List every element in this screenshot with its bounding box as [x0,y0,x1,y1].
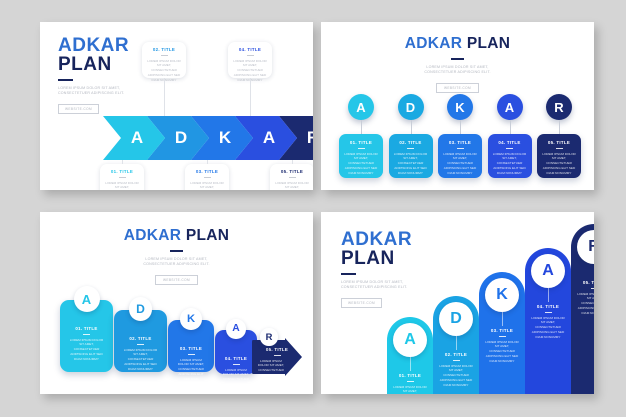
card-body: LOREM IPSUM DOLOR SIT AMET, CONSECTETUER… [443,152,477,177]
card-title: 01. TITLE [60,326,113,331]
connector-line [548,288,549,302]
connector-pin [361,120,362,134]
card-title: 03. TITLE [189,169,225,174]
card-rule [289,177,296,178]
card-body: LOREM IPSUM DOLOR SIT AMET, CONSECTETUER… [542,152,576,177]
connector-line [456,336,457,350]
subtitle: LOREM IPSUM DOLOR SIT AMET, CONSECTETUER… [58,86,168,97]
title-rule [451,58,464,60]
title-dark: PLAN [58,54,112,75]
title-accent: ADKAR [124,227,181,244]
card-rule [499,336,506,337]
card-rule [457,148,464,149]
card-title: 02. TITLE [114,336,167,341]
title-accent: ADKAR [58,35,129,56]
website-button[interactable]: WEBSITE.COM [58,104,99,114]
connector-pin [510,120,511,134]
adkar-descending-cards-panel[interactable]: ADKAR PLAN LOREM IPSUM DOLOR SIT AMET, C… [40,212,313,394]
card-rule [358,148,365,149]
website-button[interactable]: WEBSITE.COM [436,83,479,93]
letter-circle-2[interactable]: D [129,297,153,321]
title-accent: ADKAR [341,229,412,250]
letter-circle-3[interactable]: K [485,278,519,312]
card-rule [407,148,414,149]
connector-line [122,160,123,164]
card-title: 04. TITLE [215,356,257,361]
card-title: 01. TITLE [104,169,140,174]
card-rule [274,355,281,356]
page-title: ADKAR PLAN [341,230,461,269]
card-title: 05. TITLE [542,140,576,145]
card-rule [247,55,254,56]
card-title: 05. TITLE [571,280,594,285]
subtitle: LOREM IPSUM DOLOR SIT AMET, CONSECTETUER… [341,280,461,291]
connector-line [502,312,503,326]
card-body: LOREM IPSUM DOLOR SIT AMET, CONSECTETUER… [525,316,571,341]
title-rule [170,250,183,252]
adkar-circle-card-panel[interactable]: ADKAR PLAN LOREM IPSUM DOLOR SIT AMET, C… [321,22,594,190]
panel-header: ADKAR PLAN LOREM IPSUM DOLOR SIT AMET, C… [341,230,461,309]
card-body: LOREM IPSUM DOLOR SIT AMET, CONSECTETUER… [344,152,378,177]
card-title: 05. TITLE [274,169,310,174]
card-rule [556,148,563,149]
title-accent: ADKAR [405,35,462,52]
title-dark: PLAN [186,227,229,244]
card-title: 02. TITLE [394,140,428,145]
card-body: LOREM IPSUM DOLOR SIT AMET, CONSECTETUER… [252,359,302,389]
title-dark: PLAN [341,248,395,269]
panel-header: ADKAR PLAN LOREM IPSUM DOLOR SIT AMET, C… [321,36,594,94]
letter-circle-4[interactable]: A [226,319,245,338]
card-rule [83,334,90,335]
card-body: LOREM IPSUM DOLOR SIT AMET, CONSECTETUER… [60,338,113,363]
letter-circle-1[interactable]: A [74,286,100,312]
card-title: 01. TITLE [344,140,378,145]
card-rule [204,177,211,178]
letter-circle-3[interactable]: K [180,308,202,330]
subtitle: LOREM IPSUM DOLOR SIT AMET, CONSECTETUER… [321,65,594,76]
card-rule [453,360,460,361]
connector-pin [460,120,461,134]
connector-line [292,160,293,164]
subtitle: LOREM IPSUM DOLOR SIT AMET, CONSECTETUER… [40,257,313,268]
connector-line [410,357,411,371]
step-card-5[interactable]: 05. TITLELOREM IPSUM DOLOR SIT AMET, CON… [252,338,302,376]
info-card[interactable]: 03. TITLELOREM IPSUM DOLOR SIT AMET, CON… [185,164,229,190]
chevron-letter: K [219,128,232,148]
step-card-3[interactable]: 03. TITLELOREM IPSUM DOLOR SIT AMET, CON… [438,134,482,178]
card-rule [591,288,595,289]
connector-line [250,78,251,116]
card-rule [188,354,195,355]
card-rule [407,381,414,382]
step-card-2[interactable]: 02. TITLELOREM IPSUM DOLOR SIT AMET, CON… [389,134,433,178]
step-card-4[interactable]: 04. TITLELOREM IPSUM DOLOR SIT AMET, CON… [488,134,532,178]
title-dark: PLAN [467,35,510,52]
letter-circle-1[interactable]: A [348,94,374,120]
card-title: 02. TITLE [433,352,479,357]
page-title: ADKAR PLAN [40,228,313,244]
card-title: 04. TITLE [525,304,571,309]
card-title: 03. TITLE [168,346,214,351]
info-card[interactable]: 04. TITLELOREM IPSUM DOLOR SIT AMET, CON… [228,42,272,78]
card-title: 05. TITLE [252,347,302,352]
title-rule [58,79,73,81]
card-title: 04. TITLE [493,140,527,145]
step-card-1[interactable]: 01. TITLELOREM IPSUM DOLOR SIT AMET, CON… [339,134,383,178]
letter-circle-1[interactable]: A [393,323,427,357]
card-body: LOREM IPSUM DOLOR SIT AMET, CONSECTETUER… [493,152,527,177]
adkar-chevron-panel[interactable]: ADKAR PLAN LOREM IPSUM DOLOR SIT AMET, C… [40,22,313,190]
card-title: 02. TITLE [146,47,182,52]
info-card[interactable]: 01. TITLELOREM IPSUM DOLOR SIT AMET, CON… [100,164,144,190]
letter-circle-3[interactable]: K [447,94,473,120]
website-button[interactable]: WEBSITE.COM [155,275,198,285]
card-title: 04. TITLE [232,47,268,52]
card-rule [545,312,552,313]
card-body: LOREM IPSUM DOLOR SIT AMET, CONSECTETUER… [387,385,433,395]
card-rule [161,55,168,56]
letter-circle-4[interactable]: A [497,94,523,120]
connector-line [207,160,208,164]
chevron-letter: D [175,128,188,148]
infographic-collection: ADKAR PLAN LOREM IPSUM DOLOR SIT AMET, C… [0,0,626,417]
card-body: LOREM IPSUM DOLOR SIT AMET, CONSECTETUER… [571,292,594,317]
info-card[interactable]: 02. TITLELOREM IPSUM DOLOR SIT AMET, CON… [142,42,186,78]
letter-circle-4[interactable]: A [531,254,565,288]
card-title: 03. TITLE [479,328,525,333]
card-body: LOREM IPSUM DOLOR SIT AMET, CONSECTETUER… [394,152,428,177]
chevron-letter: A [263,128,276,148]
card-rule [119,177,126,178]
adkar-ascending-pillars-panel[interactable]: 01. TITLELOREM IPSUM DOLOR SIT AMET, CON… [321,212,594,394]
connector-line [164,78,165,116]
card-body: LOREM IPSUM DOLOR SIT AMET, CONSECTETUER… [479,340,525,365]
card-body: LOREM IPSUM DOLOR SIT AMET, CONSECTETUER… [104,181,140,191]
card-title: 03. TITLE [443,140,477,145]
card-rule [137,344,144,345]
letter-circle-2[interactable]: D [439,302,473,336]
card-body: LOREM IPSUM DOLOR SIT AMET, CONSECTETUER… [114,348,167,373]
card-rule [506,148,513,149]
card-body: LOREM IPSUM DOLOR SIT AMET, CONSECTETUER… [189,181,225,191]
connector-pin [559,120,560,134]
connector-pin [411,120,412,134]
website-button[interactable]: WEBSITE.COM [341,298,382,308]
info-card[interactable]: 05. TITLELOREM IPSUM DOLOR SIT AMET, CON… [270,164,313,190]
card-title: 01. TITLE [387,373,433,378]
letter-circle-5[interactable]: R [260,328,277,345]
chevron-letter: R [307,128,313,148]
letter-circle-2[interactable]: D [398,94,424,120]
step-card-5[interactable]: 05. TITLELOREM IPSUM DOLOR SIT AMET, CON… [537,134,581,178]
title-rule [341,273,356,275]
page-title: ADKAR PLAN [321,36,594,52]
card-body: LOREM IPSUM DOLOR SIT AMET, CONSECTETUER… [274,181,310,191]
card-body: LOREM IPSUM DOLOR SIT AMET, CONSECTETUER… [168,358,214,388]
chevron-letter: A [131,128,144,148]
card-rule [233,364,240,365]
card-body: LOREM IPSUM DOLOR SIT AMET, CONSECTETUER… [433,364,479,389]
card-body: LOREM IPSUM DOLOR SIT AMET, CONSECTETUER… [215,368,257,395]
letter-circle-5[interactable]: R [546,94,572,120]
panel-header: ADKAR PLAN LOREM IPSUM DOLOR SIT AMET, C… [40,228,313,286]
